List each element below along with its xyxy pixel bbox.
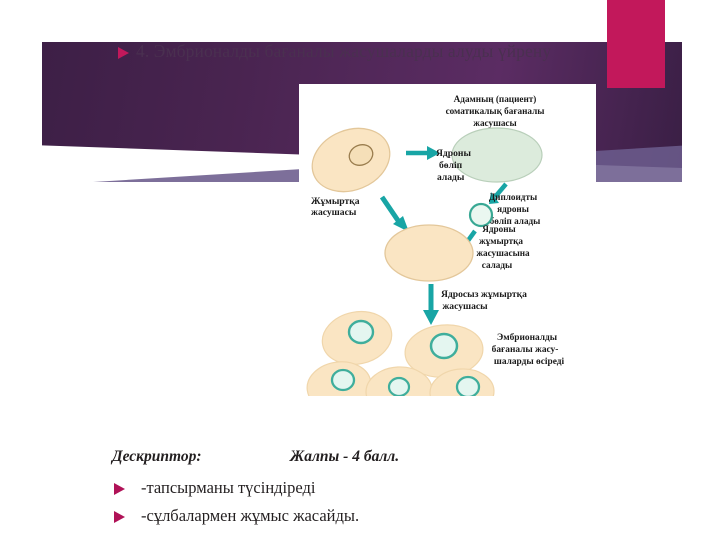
criterion-text: -сұлбалармен жұмыс жасайды. [141, 505, 359, 526]
descriptor-heading-row: Дескриптор: Жалпы - 4 балл. [112, 448, 582, 466]
label-enucleated-line2: жасушасы [442, 301, 488, 312]
descriptor-total-score: Жалпы - 4 балл. [290, 448, 399, 466]
slide-canvas: 4. Эмбрионалды бағаналы жасушаларды алуд… [0, 0, 720, 540]
triangle-bullet-icon [114, 511, 125, 523]
therapeutic-cloning-diagram: Адамның (пациент) соматикалық бағаналы ж… [299, 84, 596, 396]
embryonic-stem-cell-cluster [304, 305, 495, 396]
label-insert-line2: жұмыртқа [479, 236, 523, 246]
diagram-svg: Адамның (пациент) соматикалық бағаналы ж… [299, 84, 596, 396]
triangle-bullet-icon [118, 47, 129, 59]
label-diploid-line1: Диплоидты [489, 192, 537, 202]
label-insert-line4: салады [482, 260, 512, 270]
label-diploid-line2: ядроны [497, 204, 529, 214]
label-enucleated-line1: Ядросыз жұмыртқа [441, 289, 527, 300]
arrow-remove-nucleus [406, 146, 440, 160]
label-grow-line1: Эмбрионалды [497, 332, 558, 343]
descriptor-criterion-1: -тапсырманы түсіндіреді [114, 477, 614, 498]
page-title: 4. Эмбрионалды бағаналы жасушаларды алуд… [136, 40, 551, 63]
arrow-egg-to-enucleated [382, 197, 409, 232]
triangle-bullet-icon [114, 483, 125, 495]
label-insert-line1: Ядроны [482, 224, 515, 234]
enucleated-egg-cell-shape [385, 225, 473, 281]
descriptor-label: Дескриптор: [112, 448, 290, 466]
label-somatic-line3: жасушасы [473, 118, 516, 128]
label-remove-nucleus-line3: алады [437, 172, 465, 183]
label-egg-line1: Жұмыртқа [311, 196, 360, 207]
label-remove-nucleus-line1: Ядроны [436, 148, 471, 159]
label-somatic-line1: Адамның (пациент) [454, 94, 537, 104]
arrow-to-embryonic-cells [423, 284, 439, 325]
label-remove-nucleus-line2: бөліп [439, 160, 463, 171]
criterion-text: -тапсырманы түсіндіреді [141, 477, 315, 498]
label-insert-line3: жасушасына [476, 248, 530, 258]
label-grow-line3: шаларды өсіреді [494, 356, 565, 367]
slide-title-block: 4. Эмбрионалды бағаналы жасушаларды алуд… [118, 40, 658, 63]
diploid-nucleus-shape [470, 204, 492, 226]
label-somatic-line2: соматикалық бағаналы [446, 106, 545, 116]
label-grow-line2: бағаналы жасу- [492, 344, 559, 355]
label-egg-line2: жасушасы [311, 207, 357, 218]
descriptor-criterion-2: -сұлбалармен жұмыс жасайды. [114, 505, 614, 526]
